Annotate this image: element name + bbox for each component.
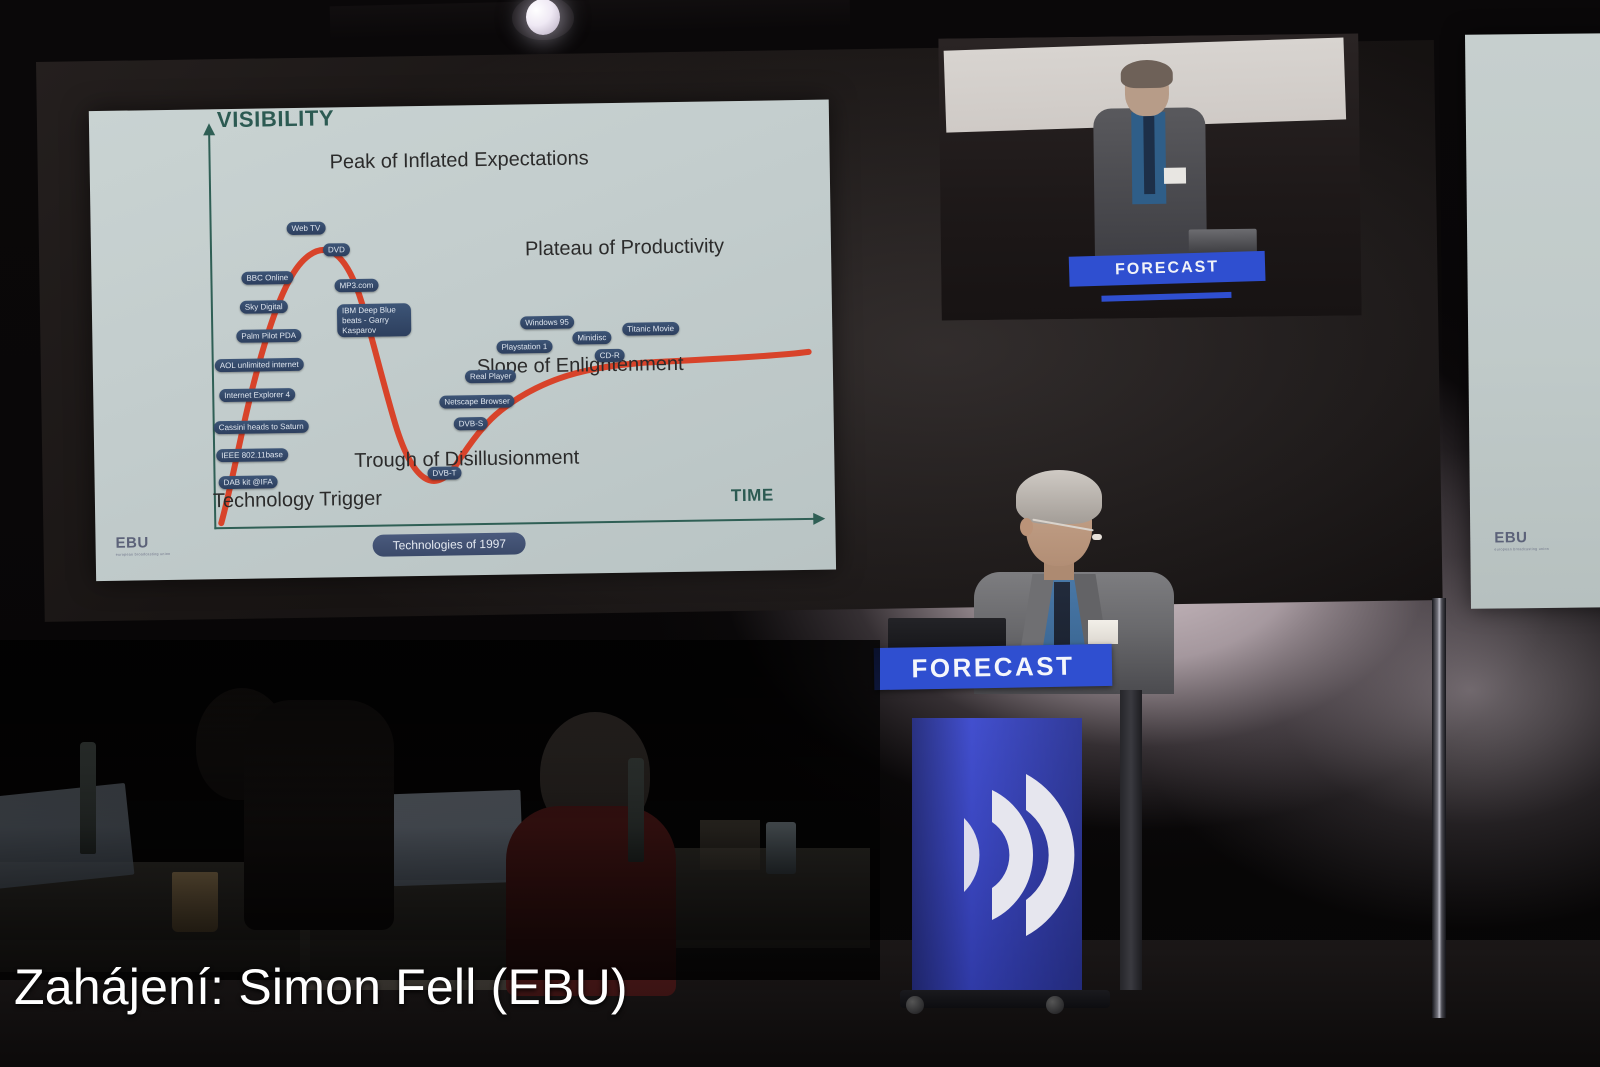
tech-tag: Titanic Movie <box>622 322 679 336</box>
tech-tag: DVB-S <box>454 417 489 431</box>
feed-lectern-banner: FORECAST <box>1069 251 1266 287</box>
caption-overlay: Zahájení: Simon Fell (EBU) <box>14 958 628 1016</box>
conference-photo: VISIBILITY TIME Peak of Inflated Expecta… <box>0 0 1600 1067</box>
tech-tag: CD-R <box>595 349 625 362</box>
coffee-cup <box>172 872 218 932</box>
ebu-logo: EBU european broadcasting union <box>115 534 170 557</box>
phase-peak-label: Peak of Inflated Expectations <box>329 147 588 174</box>
water-bottle <box>628 758 644 862</box>
ebu-logo-right: EBU european broadcasting union <box>1494 529 1549 552</box>
tech-tag: MP3.com <box>334 279 378 293</box>
phase-trough-label: Trough of Disillusionment <box>354 447 579 474</box>
tech-tag: Cassini heads to Saturn <box>214 420 309 434</box>
stage-pole <box>1432 598 1446 1018</box>
speaker-name-badge <box>1088 620 1118 644</box>
audience-person <box>244 700 394 930</box>
feed-banner-text: FORECAST <box>1115 258 1219 279</box>
phase-plateau-label: Plateau of Productivity <box>525 235 724 261</box>
desk-item <box>700 820 760 870</box>
phase-trigger-label: Technology Trigger <box>213 488 382 514</box>
presentation-slide: VISIBILITY TIME Peak of Inflated Expecta… <box>89 100 836 582</box>
tech-tag: AOL unlimited internet <box>215 358 304 372</box>
tech-tag: DAB kit @IFA <box>219 475 278 489</box>
tech-tag: Real Player <box>465 369 517 383</box>
tech-tag: Netscape Browser <box>439 395 515 409</box>
audience-laptop <box>0 783 134 889</box>
tech-tag: Windows 95 <box>520 316 574 330</box>
tech-tag: IBM Deep Blue beats - Garry Kasparov <box>337 303 412 337</box>
tech-tag: BBC Online <box>241 271 293 285</box>
tech-tag: DVB-T <box>427 466 461 480</box>
spotlight-lens-grid <box>526 0 560 35</box>
lectern-caster <box>906 996 924 1014</box>
tech-tag: Internet Explorer 4 <box>219 388 295 402</box>
ebu-logo-right-text: EBU <box>1494 529 1549 547</box>
ebu-logo-subtitle: european broadcasting union <box>116 552 171 557</box>
broadcast-waves-logo-icon <box>930 760 1080 950</box>
tech-tag: IEEE 802.11base <box>216 448 288 462</box>
tech-tag: Web TV <box>287 221 326 235</box>
slide-footer-badge: Technologies of 1997 <box>372 532 526 556</box>
secondary-projection-screen: EBU european broadcasting union <box>1465 33 1600 609</box>
lectern-banner-text: FORECAST <box>911 650 1075 684</box>
water-glass <box>766 822 796 874</box>
lectern-caster <box>1046 996 1064 1014</box>
lectern-stand <box>1120 690 1142 990</box>
speaker-hair <box>1016 470 1102 524</box>
live-camera-feed-panel: FORECAST <box>938 33 1361 320</box>
ebu-logo-text: EBU <box>115 534 170 552</box>
lectern-base <box>900 990 1110 1008</box>
tech-tag: DVD <box>323 243 350 256</box>
tech-tag: Minidisc <box>572 331 611 345</box>
ebu-logo-right-subtitle: european broadcasting union <box>1494 547 1549 552</box>
tech-tag: Palm Pilot PDA <box>236 329 301 343</box>
feed-speaker-badge <box>1164 168 1186 184</box>
water-bottle <box>80 742 96 854</box>
audience-laptop <box>390 790 523 886</box>
feed-speaker-figure <box>1087 63 1219 255</box>
lectern-banner[interactable]: FORECAST <box>874 644 1113 690</box>
tech-tag: Sky Digital <box>240 300 288 314</box>
tech-tag: Playstation 1 <box>496 340 552 354</box>
